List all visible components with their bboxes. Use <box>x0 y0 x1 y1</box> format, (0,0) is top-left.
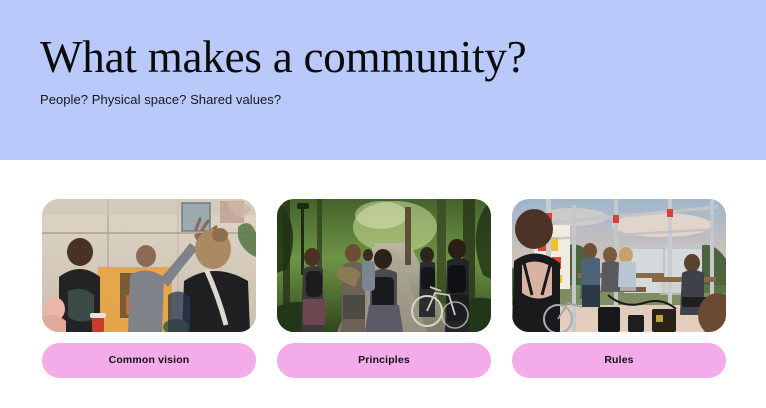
card-image-principles[interactable] <box>277 199 491 332</box>
card-common-vision: Common vision <box>42 199 256 378</box>
outdoor-evening-event-photo <box>512 199 726 332</box>
card-rules: Rules <box>512 199 726 378</box>
card-button-common-vision[interactable]: Common vision <box>42 343 256 378</box>
card-image-common-vision[interactable] <box>42 199 256 332</box>
card-grid: Common vision <box>0 160 766 378</box>
card-image-rules[interactable] <box>512 199 726 332</box>
card-principles: Principles <box>277 199 491 378</box>
card-button-principles[interactable]: Principles <box>277 343 491 378</box>
page-title: What makes a community? <box>40 0 726 82</box>
page-subtitle: People? Physical space? Shared values? <box>40 82 726 108</box>
people-walking-forest-path-photo <box>277 199 491 332</box>
hero-banner: What makes a community? People? Physical… <box>0 0 766 160</box>
people-outside-building-photo <box>42 199 256 332</box>
card-button-rules[interactable]: Rules <box>512 343 726 378</box>
